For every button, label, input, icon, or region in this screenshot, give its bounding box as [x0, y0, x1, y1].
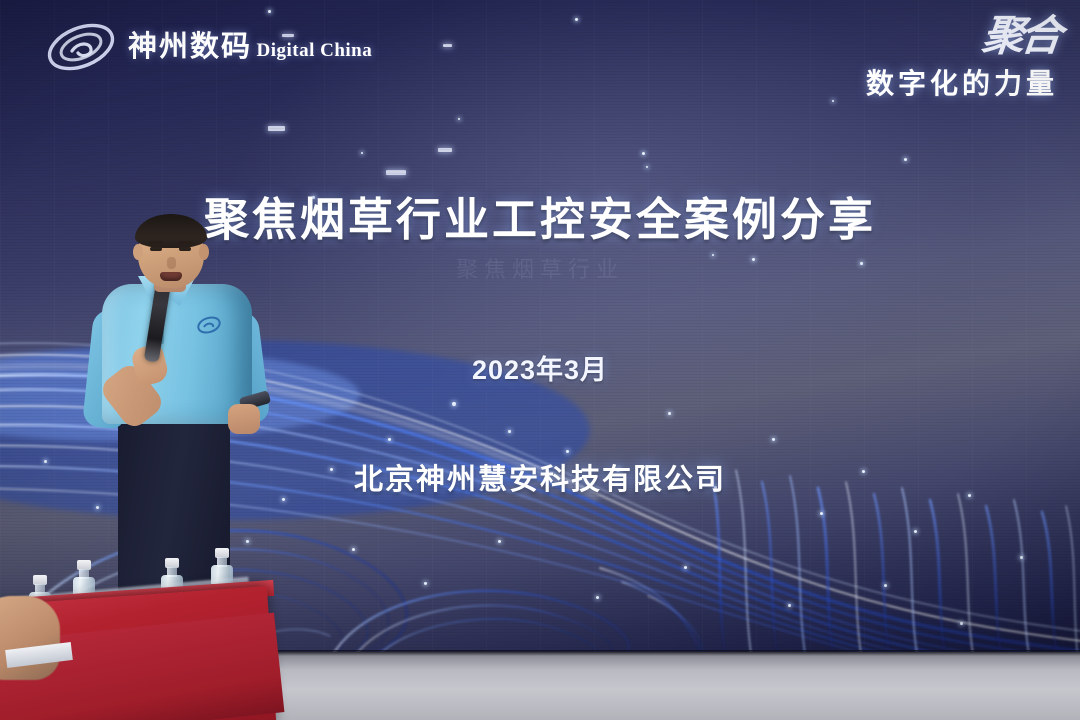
foreground-table-group — [0, 0, 1080, 720]
screenshot-root: 聚焦烟草行业 聚焦烟草行业工控安全案例分享 2023年3月 北京神州慧安科技有限… — [0, 0, 1080, 720]
